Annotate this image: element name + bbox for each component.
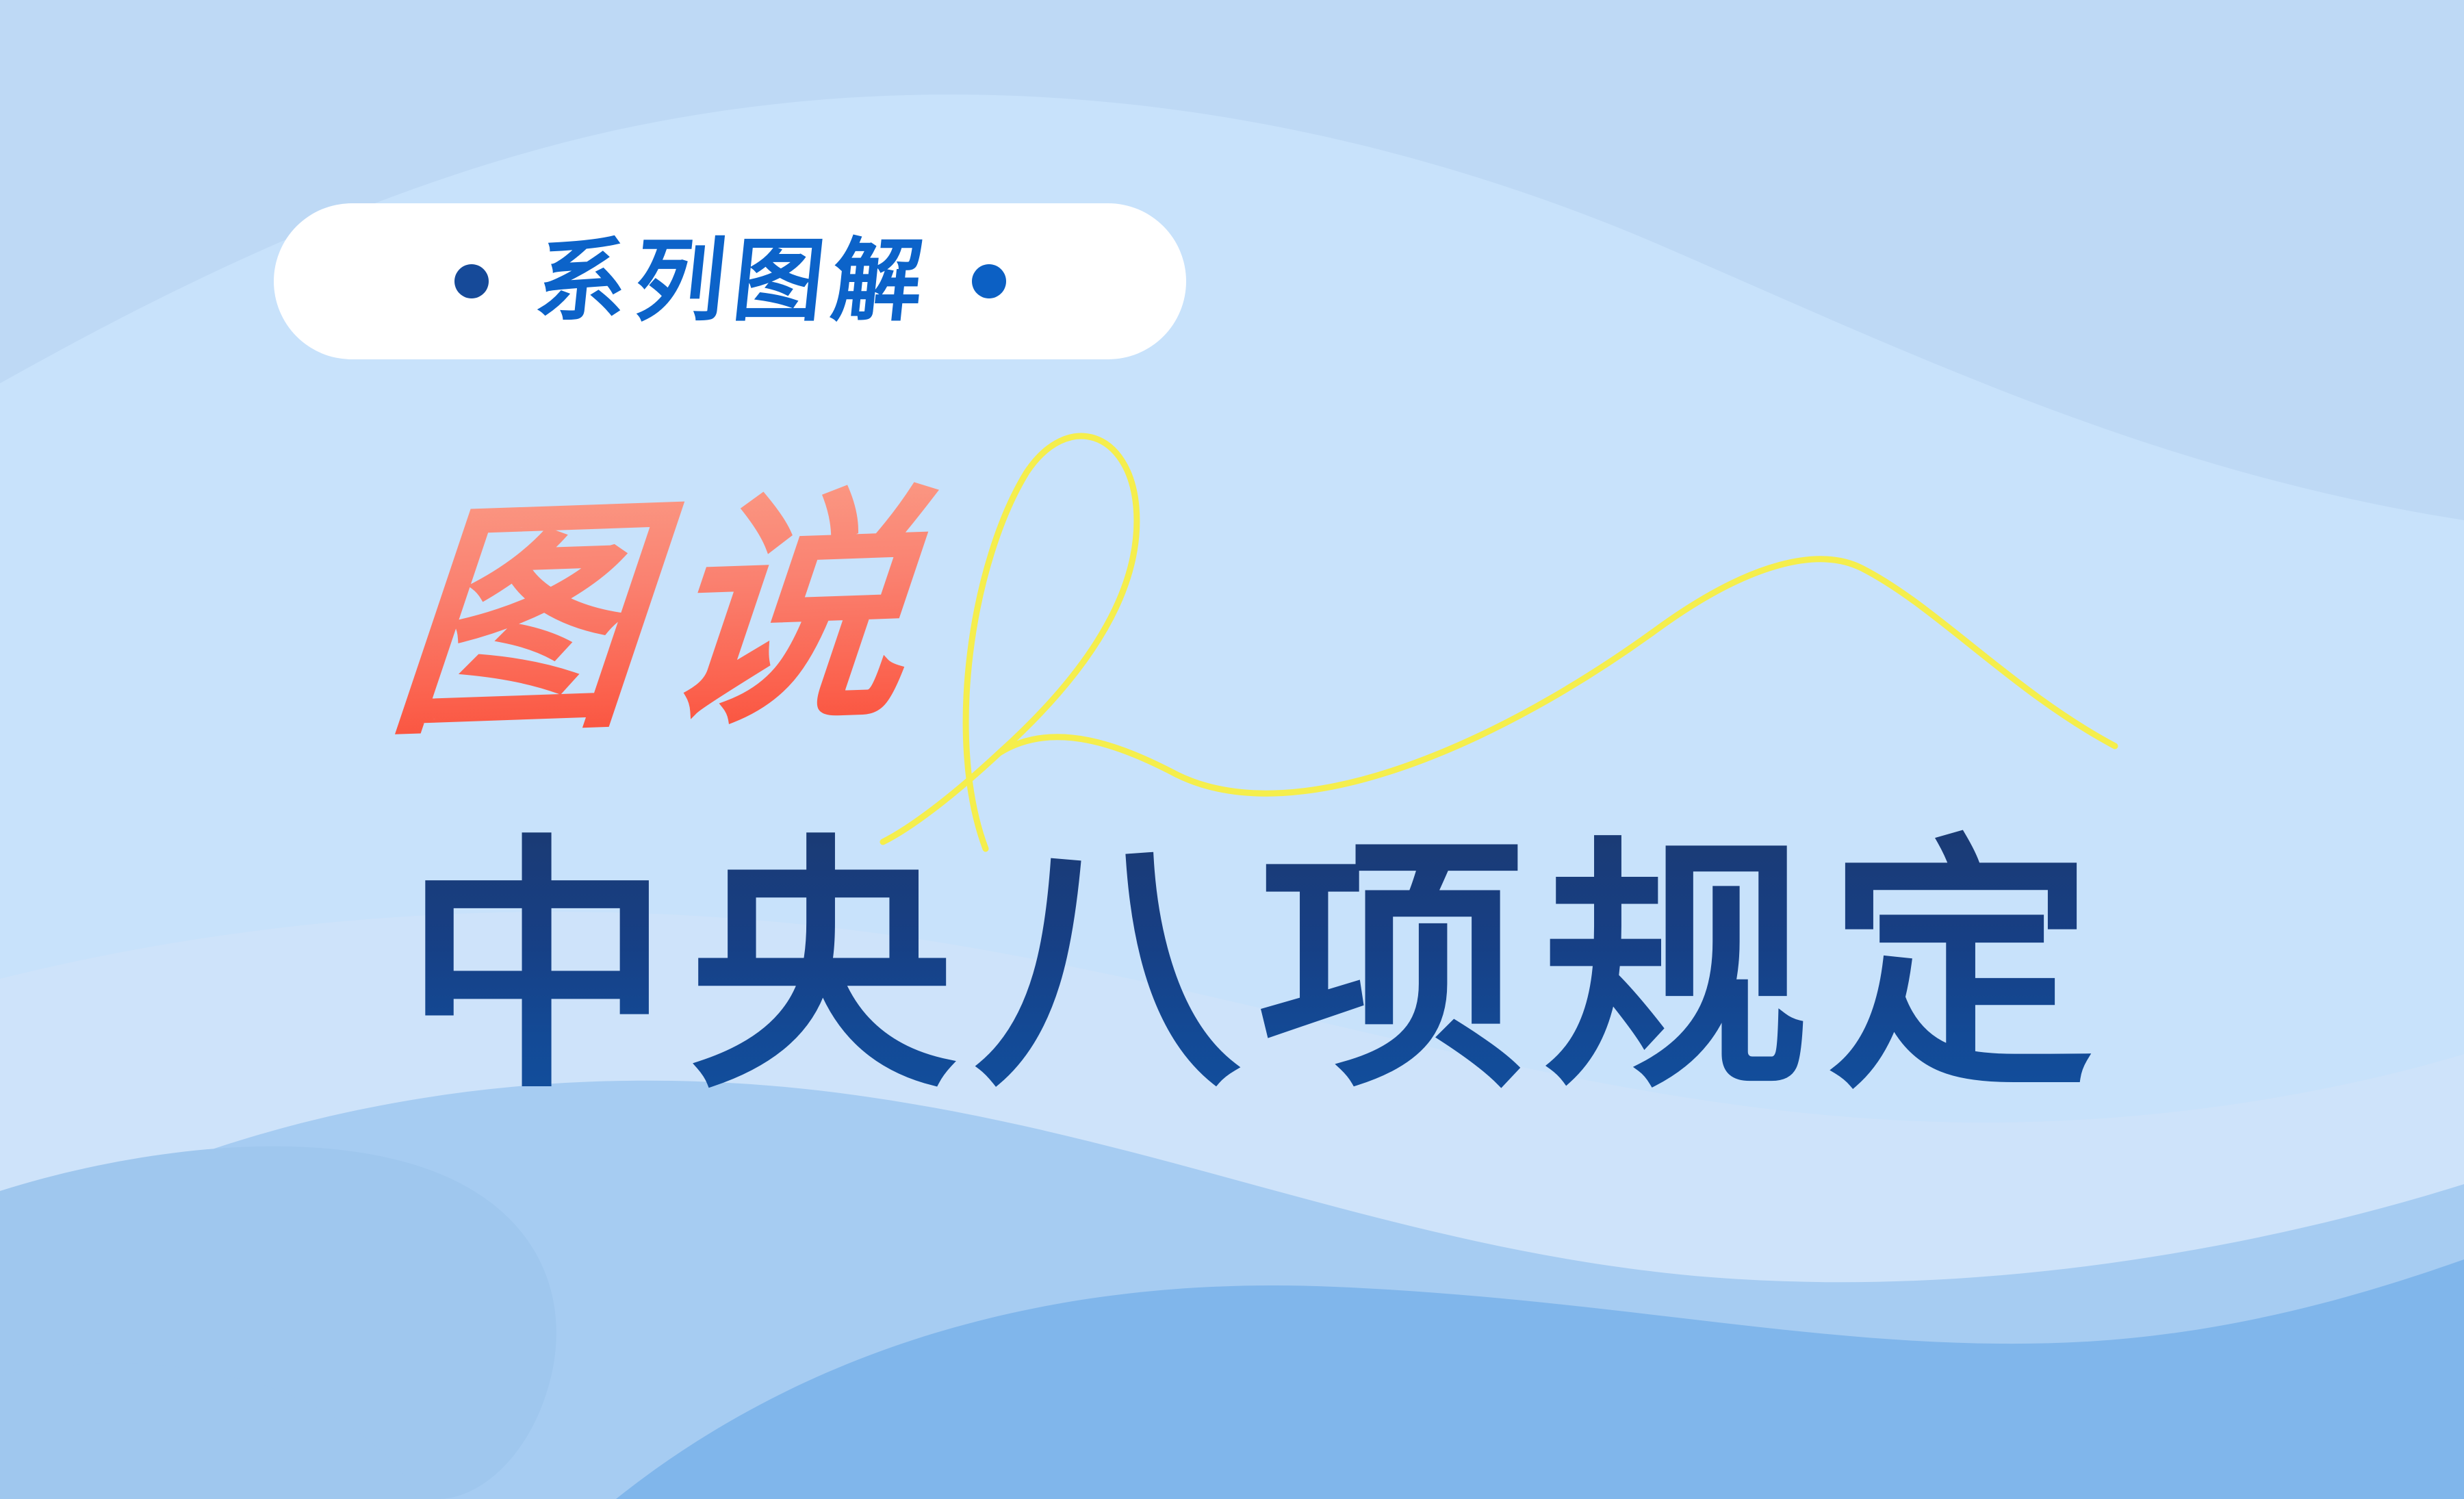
bullet-dot-left-icon bbox=[454, 264, 489, 298]
poster-canvas: 系列图解 图说 中央八项规定 bbox=[0, 0, 2464, 1499]
bullet-dot-right-icon bbox=[972, 264, 1006, 298]
series-badge-label: 系列图解 bbox=[525, 236, 936, 326]
series-badge[interactable]: 系列图解 bbox=[274, 203, 1186, 359]
script-headline: 图说 bbox=[381, 459, 997, 773]
page-title: 中央八项规定 bbox=[404, 811, 2129, 1126]
